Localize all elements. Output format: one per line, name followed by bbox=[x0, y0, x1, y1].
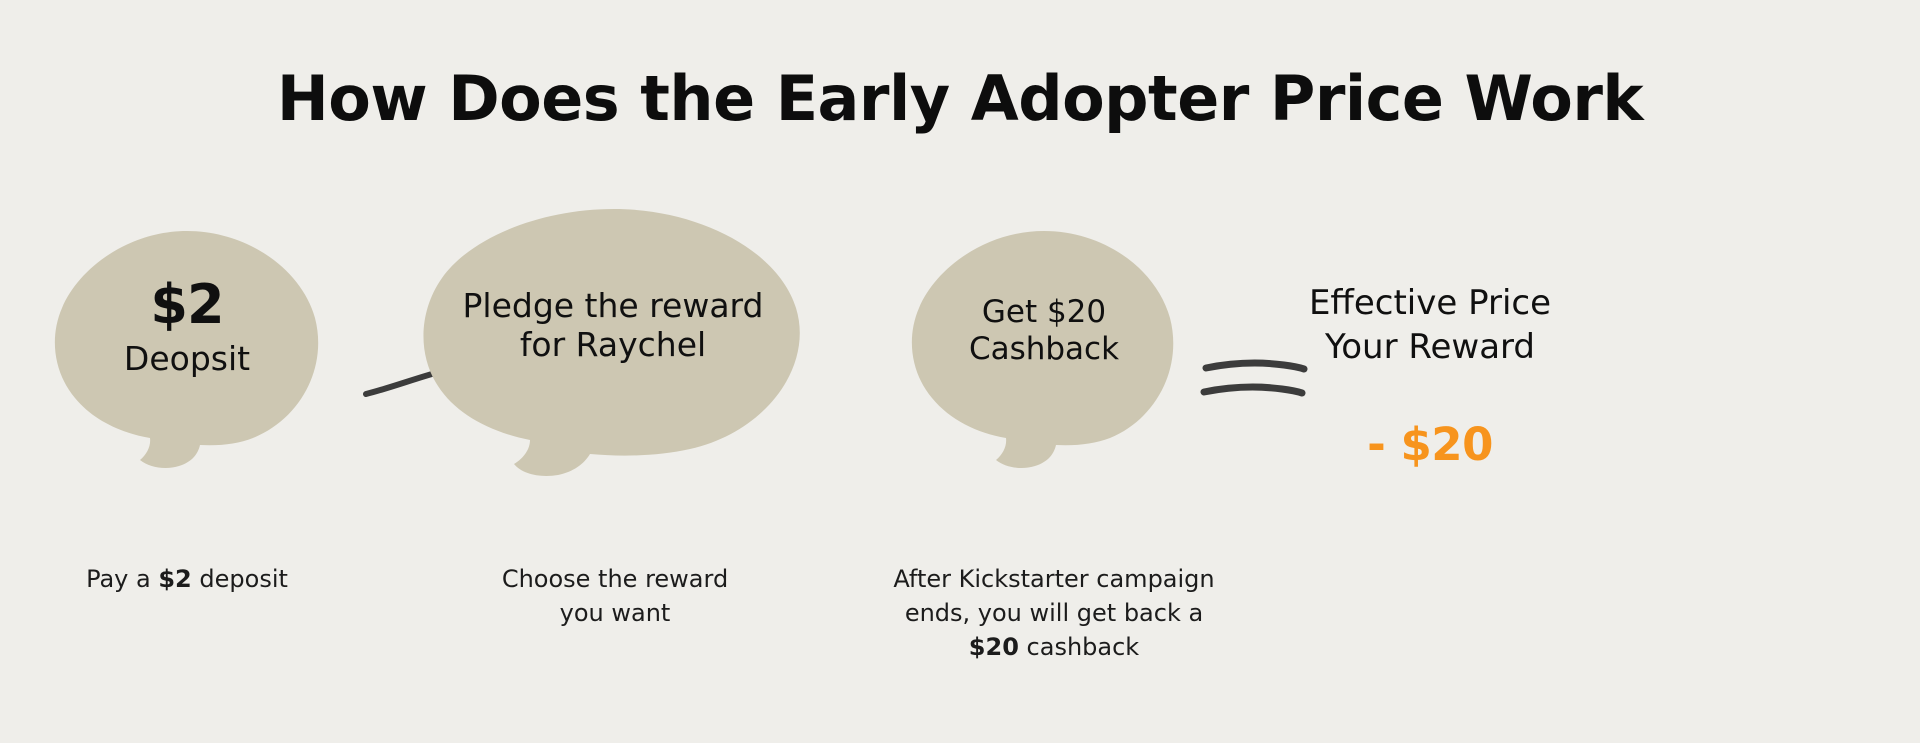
caption-cashback-line-1: After Kickstarter campaign bbox=[844, 562, 1264, 596]
step-cashback-blob: Get $20 Cashback bbox=[906, 228, 1182, 468]
caption-cashback-amount: $20 bbox=[969, 633, 1019, 661]
step-pledge-blob: Pledge the reward for Raychel bbox=[418, 206, 808, 478]
step-cashback-line-2: Cashback bbox=[969, 331, 1119, 368]
caption-cashback-suffix: cashback bbox=[1019, 633, 1139, 661]
caption-deposit-prefix: Pay a bbox=[86, 565, 158, 593]
step-deposit-amount: $2 bbox=[150, 278, 223, 332]
caption-cashback-line-2: ends, you will get back a bbox=[844, 596, 1264, 630]
caption-cashback-prefix: ends, you will get back a bbox=[905, 599, 1203, 627]
caption-cashback: After Kickstarter campaign ends, you wil… bbox=[844, 562, 1264, 664]
caption-pledge-line-2: you want bbox=[455, 596, 775, 630]
step-cashback-line-1: Get $20 bbox=[982, 294, 1106, 331]
caption-pledge: Choose the reward you want bbox=[455, 562, 775, 630]
effective-price-amount: - $20 bbox=[1260, 418, 1600, 471]
caption-deposit: Pay a $2 deposit bbox=[27, 562, 347, 596]
effective-price-line-2: Your Reward bbox=[1260, 326, 1600, 370]
step-pledge-blob-text: Pledge the reward for Raychel bbox=[418, 206, 808, 446]
step-pledge-line-1: Pledge the reward bbox=[463, 287, 764, 326]
step-deposit-label: Deopsit bbox=[124, 340, 250, 379]
caption-deposit-suffix: deposit bbox=[192, 565, 288, 593]
step-deposit-blob: $2 Deopsit bbox=[48, 228, 326, 468]
effective-price-label: Effective Price Your Reward bbox=[1260, 282, 1600, 369]
effective-price-line-1: Effective Price bbox=[1260, 282, 1600, 326]
caption-cashback-line-3: $20 cashback bbox=[844, 630, 1264, 664]
page-title: How Does the Early Adopter Price Work bbox=[0, 62, 1920, 135]
step-pledge-line-2: for Raychel bbox=[520, 326, 706, 365]
infographic-canvas: How Does the Early Adopter Price Work $2… bbox=[0, 0, 1920, 743]
caption-pledge-line-1: Choose the reward bbox=[455, 562, 775, 596]
step-deposit-blob-text: $2 Deopsit bbox=[48, 228, 326, 428]
caption-deposit-amount: $2 bbox=[158, 565, 191, 593]
step-cashback-blob-text: Get $20 Cashback bbox=[906, 228, 1182, 433]
